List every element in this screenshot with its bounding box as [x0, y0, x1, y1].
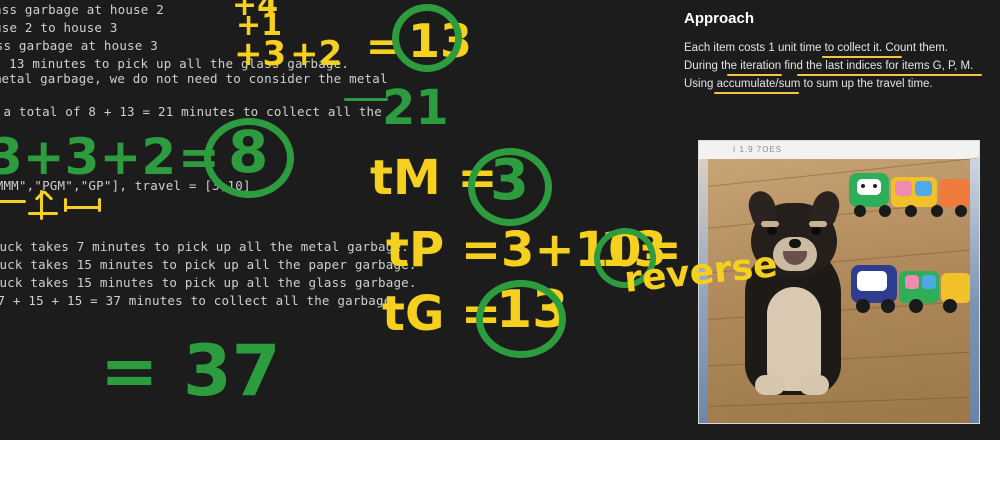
photo-header-text: I 1.9 7OES: [699, 141, 979, 159]
ink-plus-1: +1: [236, 8, 282, 43]
approach-line-1: Each item costs 1 unit time to collect i…: [684, 42, 948, 54]
dark-canvas: ass garbage at house 2 use 2 to house 3 …: [0, 0, 1000, 440]
code-line-4: es 13 minutes to pick up all the glass g…: [0, 56, 349, 71]
approach-line-2: During the iteration find the last indic…: [684, 60, 973, 72]
ink-result-37: = 37: [100, 330, 280, 412]
ink-underline-mmm: [0, 200, 26, 203]
underline-iteration: [727, 74, 782, 76]
code-line-6: s a total of 8 + 13 = 21 minutes to coll…: [0, 104, 382, 119]
dog-photo: I 1.9 7OES: [698, 140, 980, 424]
ink-circle-3: [468, 148, 552, 226]
screen-root: ass garbage at house 2 use 2 to house 3 …: [0, 0, 1000, 484]
code-line-2: use 2 to house 3: [0, 20, 118, 35]
dog-paw-left: [755, 375, 785, 395]
code-line-9: truck takes 15 minutes to pick up all th…: [0, 257, 417, 272]
ink-circle-13-top: [392, 4, 462, 72]
ink-circle-13-mid: [594, 228, 656, 288]
photo-left-edge: [699, 159, 708, 423]
approach-panel: Approach Each item costs 1 unit time to …: [672, 0, 1000, 115]
code-line-8: truck takes 7 minutes to pick up all the…: [0, 239, 409, 254]
photo-floor: [699, 159, 979, 423]
underline-accumulate-sum: [714, 92, 799, 94]
code-line-3: ass garbage at house 3: [0, 38, 158, 53]
ink-circle-8: [204, 118, 294, 198]
code-line-5: metal garbage, we do not need to conside…: [0, 71, 388, 86]
code-line-10: truck takes 15 minutes to pick up all th…: [0, 275, 417, 290]
ink-circle-13-bottom: [476, 280, 566, 358]
approach-title: Approach: [684, 10, 754, 27]
code-line-11: f 7 + 15 + 15 = 37 minutes to collect al…: [0, 293, 399, 308]
underline-count-them: [822, 56, 902, 58]
approach-line-3: Using accumulate/sum to sum up the trave…: [684, 78, 933, 90]
underline-last-indices: [797, 74, 982, 76]
ink-result-21: 21: [382, 80, 449, 136]
code-line-1: ass garbage at house 2: [0, 2, 164, 17]
dog-paw-right: [799, 375, 829, 395]
bottom-white-strip: [0, 440, 1000, 484]
ink-strike-1: [344, 98, 388, 101]
ink-plus-4: +4: [232, 0, 278, 23]
photo-right-edge: [970, 159, 979, 423]
